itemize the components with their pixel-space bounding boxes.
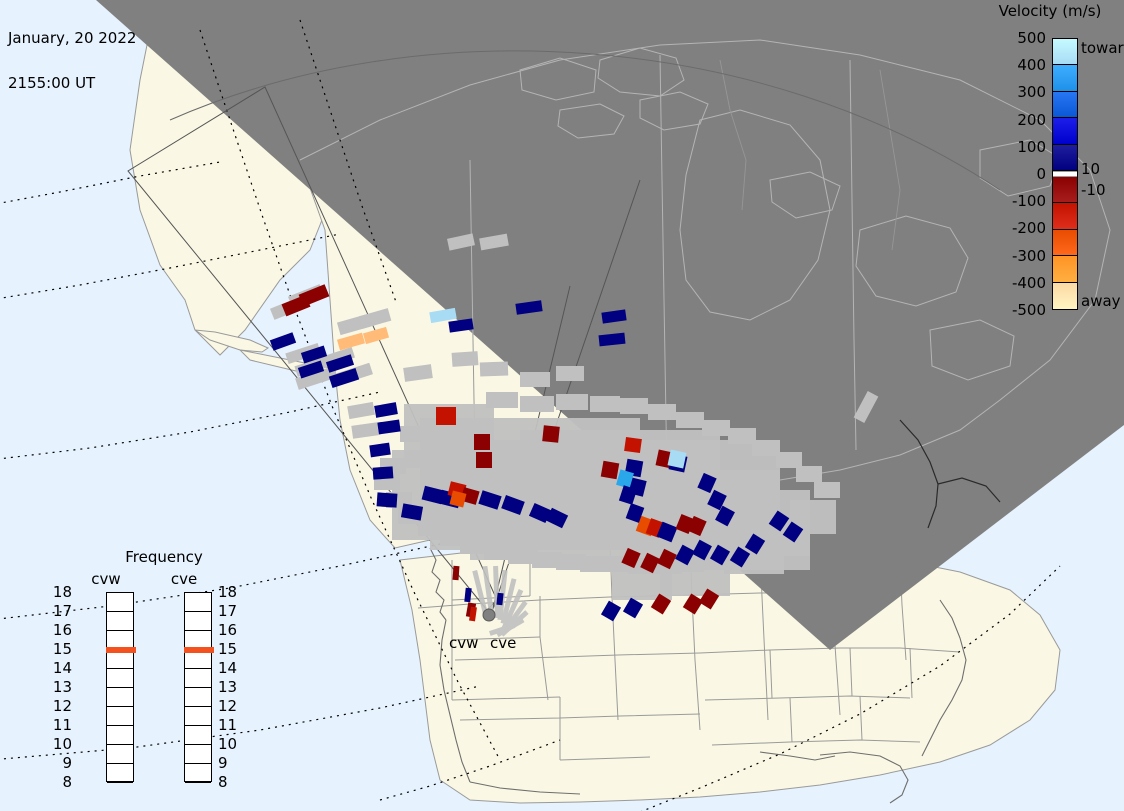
velocity-cell — [476, 452, 492, 468]
frequency-tick: 18 — [218, 583, 237, 601]
velocity-cell — [377, 492, 398, 507]
frequency-tick: 12 — [53, 697, 72, 715]
colorbar-tick-labels: 5004003002001000-100-200-300-400-500 — [976, 38, 1046, 310]
velocity-cell — [474, 434, 490, 450]
velocity-cell — [373, 466, 394, 479]
timestamp-title: January, 20 2022 2155:00 UT — [8, 1, 136, 121]
velocity-cell — [601, 461, 620, 480]
frequency-bar — [106, 592, 134, 782]
colorbar-side-labels: toward10-10away — [1081, 38, 1124, 310]
frequency-segment — [107, 745, 133, 764]
colorbar-cell-positive — [1053, 92, 1077, 118]
colorbar-tick: -400 — [1012, 274, 1046, 292]
frequency-tick: 12 — [218, 697, 237, 715]
frequency-tick: 13 — [218, 678, 237, 696]
frequency-segment — [185, 593, 211, 612]
frequency-segment — [185, 726, 211, 745]
colorbar-cell-positive — [1053, 118, 1077, 144]
frequency-tick: 18 — [53, 583, 72, 601]
frequency-legend: Frequency cvw18171615141312111098 cve181… — [84, 548, 244, 788]
frequency-segment — [107, 612, 133, 631]
velocity-cell — [496, 593, 503, 606]
colorbar-cell-negative — [1053, 177, 1077, 203]
colorbar-tick: 100 — [1017, 138, 1046, 156]
colorbar-tick: 500 — [1017, 29, 1046, 47]
colorbar-cell-negative — [1053, 256, 1077, 282]
velocity-cell — [624, 437, 642, 453]
superdarn-fan-plot: January, 20 2022 2155:00 UT Velocity (m/… — [0, 0, 1124, 811]
frequency-tick: 8 — [62, 773, 72, 791]
frequency-marker — [184, 647, 214, 653]
frequency-tick: 10 — [53, 735, 72, 753]
frequency-tick: 10 — [218, 735, 237, 753]
colorbar-lower-threshold-label: -10 — [1081, 181, 1106, 199]
frequency-tick: 15 — [218, 640, 237, 658]
velocity-colorbar: Velocity (m/s) 5004003002001000-100-200-… — [976, 0, 1124, 340]
colorbar-cell-negative — [1053, 283, 1077, 309]
frequency-tick: 17 — [218, 602, 237, 620]
colorbar-cell-positive — [1053, 65, 1077, 91]
frequency-segment — [107, 707, 133, 726]
velocity-cell — [436, 407, 456, 425]
frequency-tick: 16 — [53, 621, 72, 639]
colorbar-tick: -500 — [1012, 301, 1046, 319]
station-label-cve: cve — [490, 634, 516, 652]
frequency-tick: 14 — [53, 659, 72, 677]
frequency-segment — [107, 764, 133, 783]
colorbar-toward-label: toward — [1081, 39, 1124, 57]
title-time: 2155:00 UT — [8, 76, 136, 91]
title-date: January, 20 2022 — [8, 31, 136, 46]
colorbar-tick: 200 — [1017, 111, 1046, 129]
velocity-cell — [453, 566, 460, 580]
frequency-tick: 9 — [62, 754, 72, 772]
frequency-column-name: cve — [171, 570, 197, 588]
colorbar-tick: 300 — [1017, 83, 1046, 101]
colorbar-gradient-bar — [1052, 38, 1078, 310]
frequency-bar — [184, 592, 212, 782]
frequency-tick: 15 — [53, 640, 72, 658]
colorbar-upper-threshold-label: 10 — [1081, 160, 1100, 178]
frequency-tick: 13 — [53, 678, 72, 696]
frequency-segment — [185, 688, 211, 707]
colorbar-away-label: away — [1081, 292, 1121, 310]
frequency-tick: 9 — [218, 754, 228, 772]
colorbar-tick: -300 — [1012, 247, 1046, 265]
station-label-cvw: cvw — [449, 634, 478, 652]
frequency-tick: 16 — [218, 621, 237, 639]
frequency-segment — [185, 669, 211, 688]
frequency-segment — [107, 669, 133, 688]
velocity-cell — [668, 450, 687, 469]
colorbar-tick: -100 — [1012, 192, 1046, 210]
frequency-segment — [107, 688, 133, 707]
colorbar-tick: 400 — [1017, 56, 1046, 74]
colorbar-cell-negative — [1053, 203, 1077, 229]
radar-site-marker — [483, 609, 495, 621]
frequency-segment — [107, 726, 133, 745]
frequency-segment — [185, 612, 211, 631]
colorbar-tick: -200 — [1012, 219, 1046, 237]
frequency-segment — [107, 593, 133, 612]
colorbar-tick: 0 — [1036, 165, 1046, 183]
frequency-tick: 14 — [218, 659, 237, 677]
colorbar-cell-positive — [1053, 145, 1077, 171]
colorbar-title: Velocity (m/s) — [980, 2, 1120, 20]
frequency-tick: 17 — [53, 602, 72, 620]
frequency-tick: 11 — [53, 716, 72, 734]
velocity-cell — [542, 425, 560, 443]
frequency-segment — [185, 764, 211, 783]
frequency-column-name: cvw — [91, 570, 120, 588]
frequency-tick: 11 — [218, 716, 237, 734]
frequency-legend-title: Frequency — [84, 548, 244, 566]
colorbar-cell-positive — [1053, 39, 1077, 65]
frequency-tick: 8 — [218, 773, 228, 791]
frequency-marker — [106, 647, 136, 653]
colorbar-cell-negative — [1053, 230, 1077, 256]
frequency-segment — [185, 745, 211, 764]
frequency-segment — [185, 707, 211, 726]
